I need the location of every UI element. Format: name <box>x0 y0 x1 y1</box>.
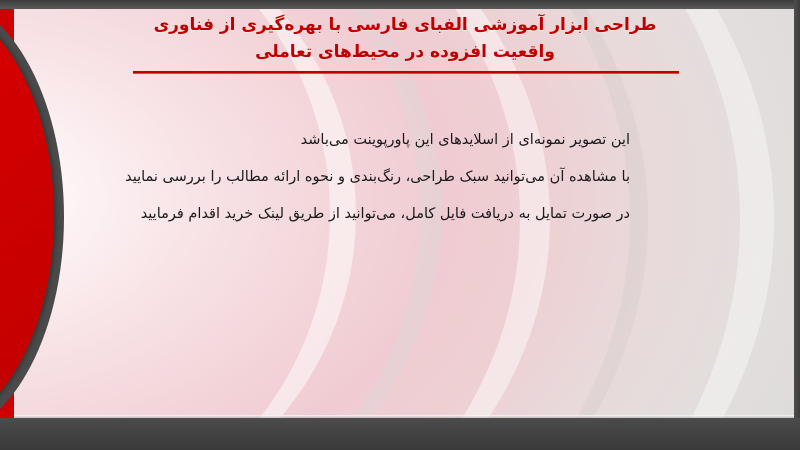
title-line-1: طراحی ابزار آموزشی الفبای فارسی با بهره‌… <box>120 12 690 39</box>
slide-title: طراحی ابزار آموزشی الفبای فارسی با بهره‌… <box>120 12 690 66</box>
body-line-1: این تصویر نمونه‌ای از اسلایدهای این پاور… <box>160 122 630 159</box>
title-line-2: واقعیت افزوده در محیط‌های تعاملی <box>120 39 690 66</box>
slide-body: این تصویر نمونه‌ای از اسلایدهای این پاور… <box>160 122 630 233</box>
title-underline <box>133 71 679 74</box>
top-frame-band <box>0 0 800 9</box>
bottom-frame-band <box>0 418 800 450</box>
right-frame-band <box>794 0 800 450</box>
body-line-2: با مشاهده آن می‌توانید سبک طراحی، رنگ‌بن… <box>160 159 630 196</box>
presentation-slide: طراحی ابزار آموزشی الفبای فارسی با بهره‌… <box>0 0 800 450</box>
body-line-3: در صورت تمایل به دریافت فایل کامل، می‌تو… <box>160 196 630 233</box>
